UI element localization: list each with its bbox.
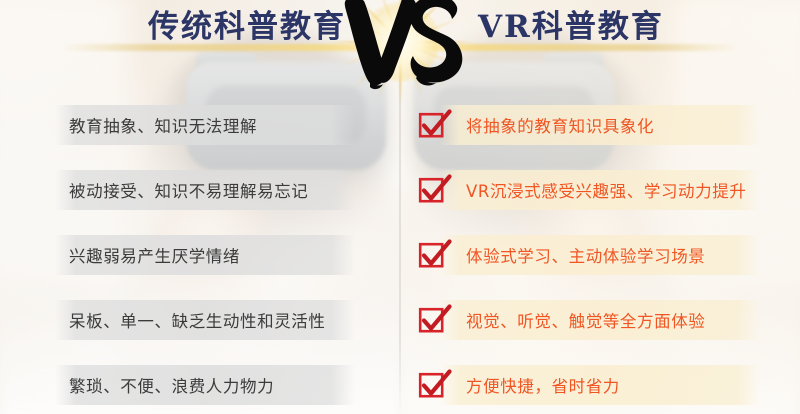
list-item-label: VR沉浸式感受兴趣强、学习动力提升 (466, 178, 746, 202)
list-item: 方便快捷，省时省力 (440, 365, 760, 405)
list-item-label: 教育抽象、知识无法理解 (69, 113, 257, 137)
checkbox-checked-icon (418, 174, 452, 206)
list-item-label: 兴趣弱易产生厌学情绪 (69, 243, 240, 267)
list-item-label: 视觉、听觉、触觉等全方面体验 (466, 308, 705, 332)
traditional-education-column: 教育抽象、知识无法理解 被动接受、知识不易理解易忘记 兴趣弱易产生厌学情绪 呆板… (0, 0, 400, 414)
list-item: 兴趣弱易产生厌学情绪 (55, 235, 355, 275)
list-item: 被动接受、知识不易理解易忘记 (55, 170, 355, 210)
list-item: 繁琐、不便、浪费人力物力 (55, 365, 355, 405)
list-item-label: 被动接受、知识不易理解易忘记 (69, 178, 308, 202)
list-item-label: 呆板、单一、缺乏生动性和灵活性 (69, 308, 326, 332)
checkbox-checked-icon (418, 109, 452, 141)
comparison-infographic: 传统科普教育 VR科普教育 教育抽象、知识无法理解 被动接受、知识不易理解易忘记 (0, 0, 800, 414)
list-item-label: 繁琐、不便、浪费人力物力 (69, 373, 274, 397)
list-item: 体验式学习、主动体验学习场景 (440, 235, 760, 275)
checkbox-checked-icon (418, 304, 452, 336)
list-item: 将抽象的教育知识具象化 (440, 105, 760, 145)
list-item-label: 方便快捷，省时省力 (466, 373, 620, 397)
list-item-label: 将抽象的教育知识具象化 (466, 113, 654, 137)
vr-education-column: 将抽象的教育知识具象化 VR沉浸式感受兴趣强、学习动力提升 体验式学习、主动体验… (400, 0, 800, 414)
checkbox-checked-icon (418, 369, 452, 401)
list-item-label: 体验式学习、主动体验学习场景 (466, 243, 705, 267)
list-item: VR沉浸式感受兴趣强、学习动力提升 (440, 170, 760, 210)
list-item: 呆板、单一、缺乏生动性和灵活性 (55, 300, 355, 340)
list-item: 视觉、听觉、触觉等全方面体验 (440, 300, 760, 340)
checkbox-checked-icon (418, 239, 452, 271)
list-item: 教育抽象、知识无法理解 (55, 105, 355, 145)
